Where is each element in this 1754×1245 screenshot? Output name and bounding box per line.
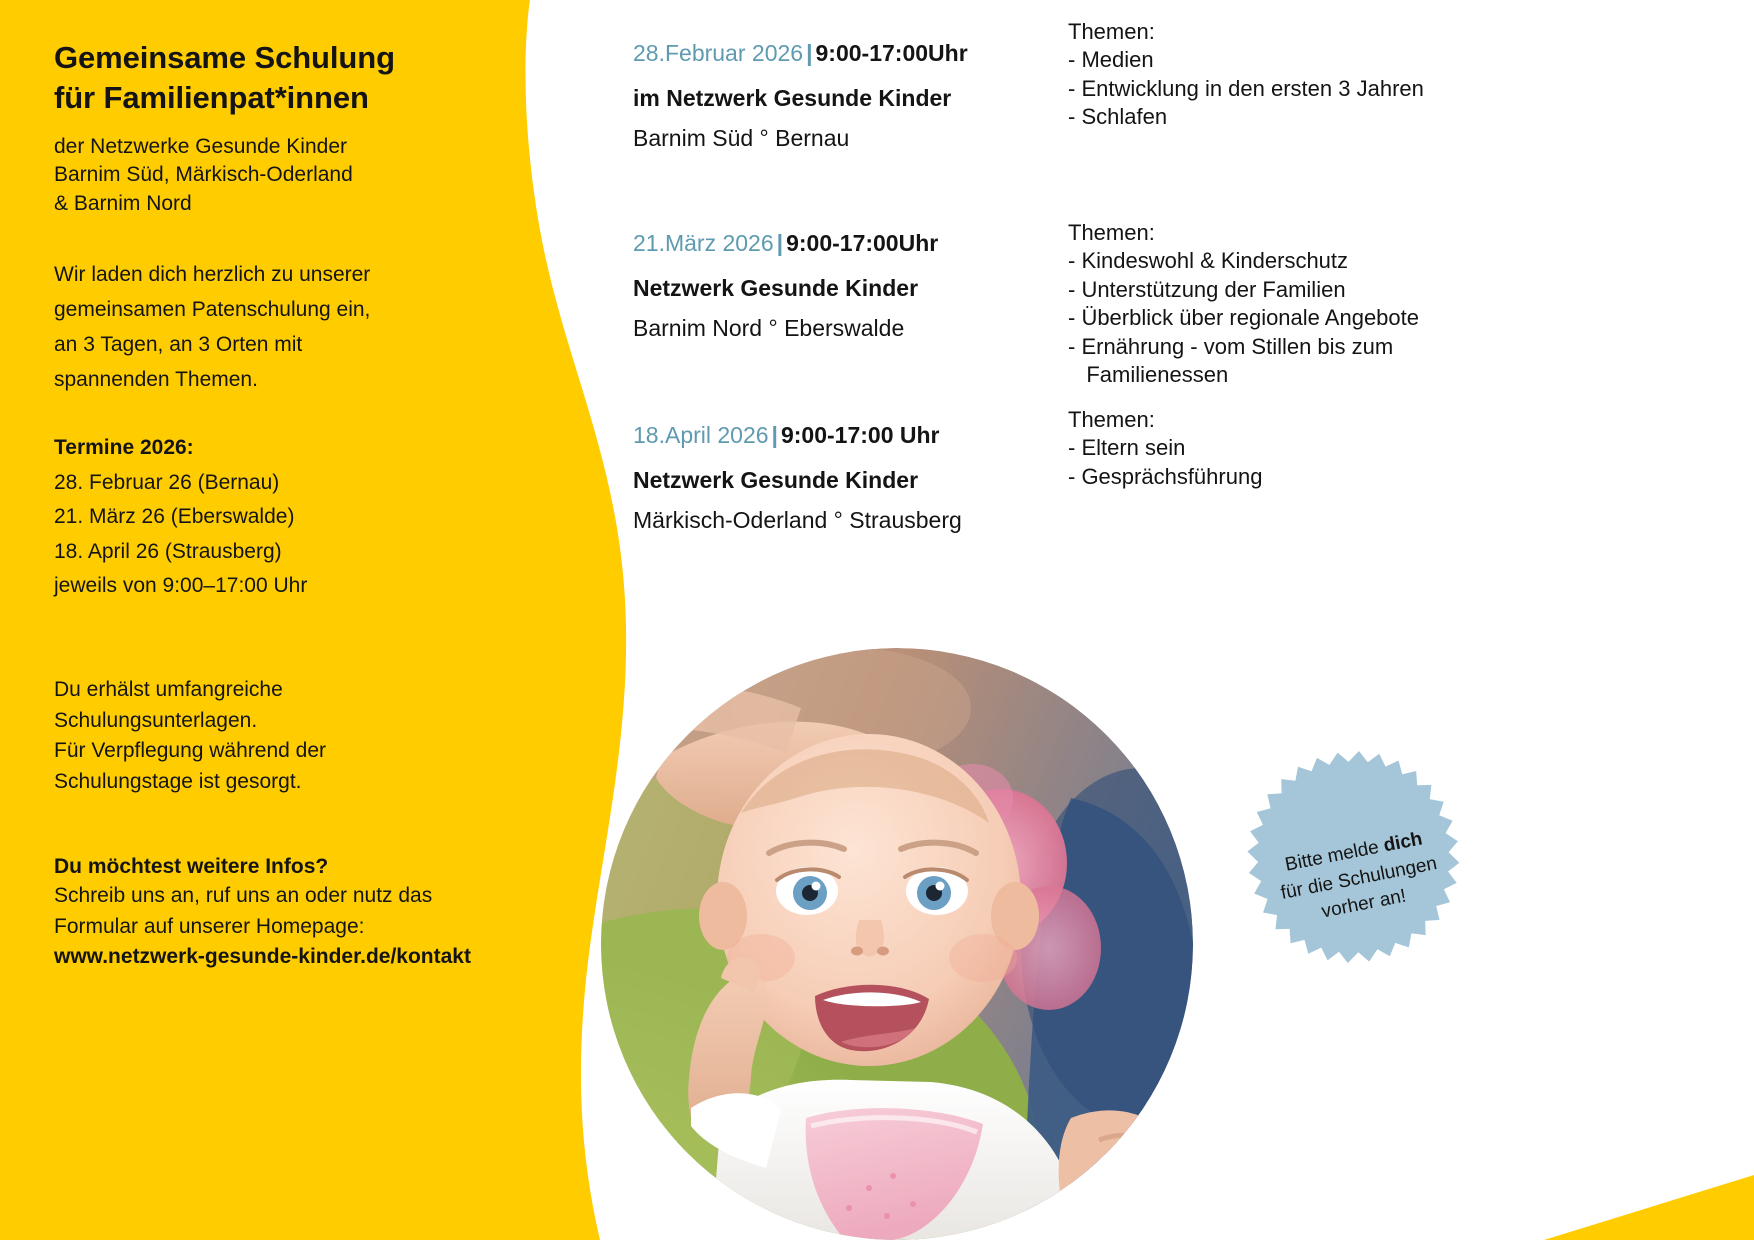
- schedule-entry-2-separator: |: [774, 230, 786, 256]
- topics-group-2-item: - Unterstützung der Familien: [1068, 276, 1538, 304]
- invite-line-2: gemeinsamen Patenschulung ein,: [54, 298, 370, 321]
- subtitle-line-3: & Barnim Nord: [54, 192, 192, 215]
- schedule-entry-1-network: im Netzwerk Gesunde Kinder: [633, 83, 1063, 114]
- topics-group-2-item: - Überblick über regionale Angebote: [1068, 304, 1538, 332]
- termine-heading: Termine 2026:: [54, 436, 534, 460]
- homepage-url-link[interactable]: www.netzwerk-gesunde-kinder.de/kontakt: [54, 942, 534, 972]
- termine-list: 28. Februar 26 (Bernau) 21. März 26 (Ebe…: [54, 466, 534, 604]
- topics-group-1-item: - Medien: [1068, 46, 1538, 74]
- topics-group-1-item: - Entwicklung in den ersten 3 Jahren: [1068, 75, 1538, 103]
- topics-group-3: Themen: - Eltern sein - Gesprächsführung: [1068, 406, 1538, 491]
- left-info-column: Gemeinsame Schulung für Familienpat*inne…: [54, 0, 534, 1240]
- subtitle-line-2: Barnim Süd, Märkisch-Oderland: [54, 163, 353, 186]
- invite-line-3: an 3 Tagen, an 3 Orten mit: [54, 333, 302, 356]
- schedule-entry-2-place: Barnim Nord ° Eberswalde: [633, 313, 1063, 344]
- topics-group-2-heading: Themen:: [1068, 219, 1538, 247]
- schedule-entry-1-time: 9:00-17:00Uhr: [816, 40, 968, 66]
- termine-item: 18. April 26 (Strausberg): [54, 535, 534, 569]
- schedule-entry-3-time: 9:00-17:00 Uhr: [781, 422, 940, 448]
- schedule-entry-1: 28.Februar 2026|9:00-17:00Uhr im Netzwer…: [633, 38, 1063, 153]
- subtitle: der Netzwerke Gesunde Kinder Barnim Süd,…: [54, 133, 534, 219]
- more-info-body: Schreib uns an, ruf uns an oder nutz das…: [54, 881, 534, 942]
- topics-group-2-item: - Ernährung - vom Stillen bis zum: [1068, 333, 1538, 361]
- topics-group-2: Themen: - Kindeswohl & Kinderschutz - Un…: [1068, 219, 1538, 389]
- schedule-entry-3-place: Märkisch-Oderland ° Strausberg: [633, 505, 1063, 536]
- materials-line-3: Für Verpflegung während der: [54, 739, 326, 762]
- topics-group-1-heading: Themen:: [1068, 18, 1538, 46]
- termine-item: 28. Februar 26 (Bernau): [54, 466, 534, 500]
- invite-line-4: spannenden Themen.: [54, 368, 258, 391]
- more-info-line-1: Schreib uns an, ruf uns an oder nutz das: [54, 884, 432, 907]
- topics-group-3-heading: Themen:: [1068, 406, 1538, 434]
- badge-text-block: Bitte melde dich für die Schulungen vorh…: [1205, 725, 1512, 1032]
- schedule-entry-2-time: 9:00-17:00Uhr: [786, 230, 938, 256]
- schedule-entry-3-separator: |: [769, 422, 781, 448]
- registration-reminder-badge: Bitte melde dich für die Schulungen vorh…: [1228, 748, 1490, 1010]
- subtitle-line-1: der Netzwerke Gesunde Kinder: [54, 135, 347, 158]
- more-info-line-2: Formular auf unserer Homepage:: [54, 915, 364, 938]
- topics-group-1-item: - Schlafen: [1068, 103, 1538, 131]
- schedule-entry-1-headline: 28.Februar 2026|9:00-17:00Uhr: [633, 38, 1063, 69]
- materials-line-1: Du erhälst umfangreiche: [54, 678, 283, 701]
- termine-item: jeweils von 9:00–17:00 Uhr: [54, 569, 534, 603]
- materials-line-2: Schulungsunterlagen.: [54, 709, 257, 732]
- schedule-entry-3-date: 18.April 2026: [633, 422, 769, 448]
- schedule-entry-3-network: Netzwerk Gesunde Kinder: [633, 465, 1063, 496]
- baby-photo: [601, 648, 1193, 1240]
- invite-line-1: Wir laden dich herzlich zu unserer: [54, 263, 370, 286]
- schedule-entry-3: 18.April 2026|9:00-17:00 Uhr Netzwerk Ge…: [633, 420, 1063, 535]
- schedule-entry-1-date: 28.Februar 2026: [633, 40, 803, 66]
- materials-paragraph: Du erhälst umfangreiche Schulungsunterla…: [54, 675, 534, 797]
- badge-line-1-emphasis: dich: [1382, 828, 1424, 856]
- schedule-entry-2-network: Netzwerk Gesunde Kinder: [633, 273, 1063, 304]
- title-line-2: für Familienpat*innen: [54, 80, 369, 115]
- topics-group-1: Themen: - Medien - Entwicklung in den er…: [1068, 18, 1538, 132]
- topics-group-2-item: - Kindeswohl & Kinderschutz: [1068, 247, 1538, 275]
- schedule-entry-1-separator: |: [803, 40, 815, 66]
- schedule-entry-2-date: 21.März 2026: [633, 230, 774, 256]
- topics-group-2-item: Familienessen: [1068, 361, 1538, 389]
- termine-item: 21. März 26 (Eberswalde): [54, 500, 534, 534]
- invitation-paragraph: Wir laden dich herzlich zu unserer gemei…: [54, 258, 534, 397]
- topics-group-3-item: - Eltern sein: [1068, 434, 1538, 462]
- bottom-right-yellow-wedge: [1424, 1120, 1754, 1240]
- schedule-entry-3-headline: 18.April 2026|9:00-17:00 Uhr: [633, 420, 1063, 451]
- topics-group-3-item: - Gesprächsführung: [1068, 463, 1538, 491]
- more-info-heading: Du möchtest weitere Infos?: [54, 855, 534, 879]
- schedule-entry-2-headline: 21.März 2026|9:00-17:00Uhr: [633, 228, 1063, 259]
- schedule-entry-2: 21.März 2026|9:00-17:00Uhr Netzwerk Gesu…: [633, 228, 1063, 343]
- page-title: Gemeinsame Schulung für Familienpat*inne…: [54, 0, 534, 119]
- title-line-1: Gemeinsame Schulung: [54, 40, 395, 75]
- schedule-entry-1-place: Barnim Süd ° Bernau: [633, 123, 1063, 154]
- materials-line-4: Schulungstage ist gesorgt.: [54, 770, 302, 793]
